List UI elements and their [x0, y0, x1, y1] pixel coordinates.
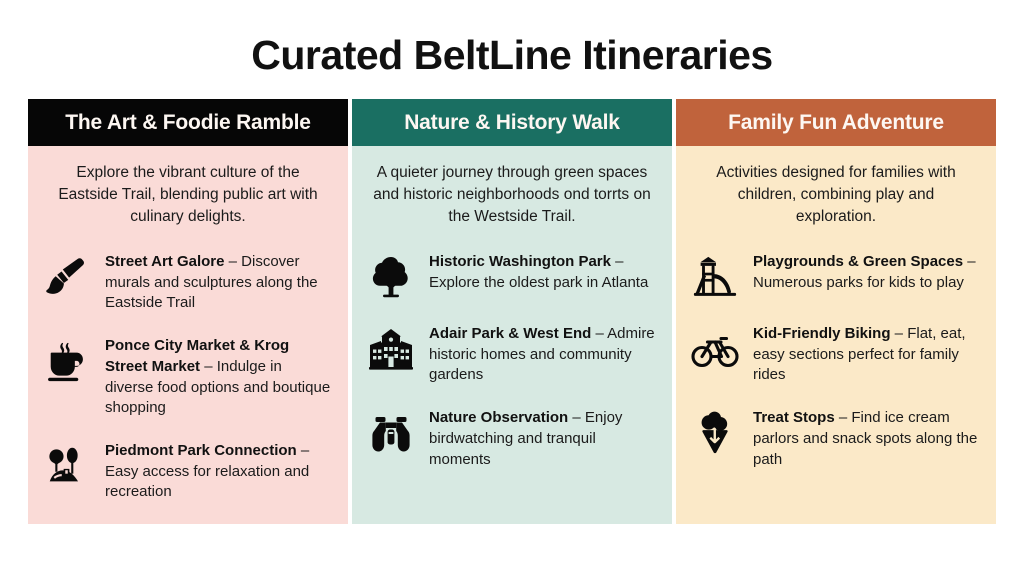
item-list-nature-history: Historic Washington Park – Explore the o… [366, 250, 658, 470]
coffee-cup-icon [42, 336, 92, 386]
list-item-text: Kid-Friendly Biking – Flat, eat, easy se… [753, 322, 982, 386]
list-item-text: Playgrounds & Green Spaces – Numerous pa… [753, 250, 982, 293]
list-item: Nature Observation – Enjoy birdwatching … [366, 406, 658, 470]
itinerary-card-nature-history: Nature & History Walk A quieter journey … [352, 99, 672, 524]
playground-slide-icon [690, 252, 740, 302]
list-item-title: Street Art Galore [105, 253, 224, 270]
card-header-family-fun: Family Fun Adventure [676, 99, 996, 146]
list-item: Playgrounds & Green Spaces – Numerous pa… [690, 250, 982, 302]
list-item-title: Playgrounds & Green Spaces [753, 253, 963, 270]
bicycle-icon [690, 324, 740, 374]
list-item-text: Nature Observation – Enjoy birdwatching … [429, 406, 658, 470]
item-list-family-fun: Playgrounds & Green Spaces – Numerous pa… [690, 250, 982, 470]
list-item-dash: – [224, 253, 241, 270]
list-item-text: Treat Stops – Find ice cream parlors and… [753, 406, 982, 470]
itinerary-card-family-fun: Family Fun Adventure Activities designed… [676, 99, 996, 524]
list-item-text: Street Art Galore – Discover murals and … [105, 250, 334, 314]
card-header-label: Family Fun Adventure [728, 111, 944, 135]
card-intro-text: A quieter journey through green spaces a… [366, 158, 658, 228]
list-item: Ponce City Market & Krog Street Market –… [42, 334, 334, 419]
list-item-dash: – [200, 358, 217, 375]
list-item-title: Nature Observation [429, 409, 568, 426]
list-item: Adair Park & West End – Admire historic … [366, 322, 658, 386]
card-intro-text: Explore the vibrant culture of the Easts… [42, 158, 334, 228]
card-header-label: The Art & Foodie Ramble [65, 111, 310, 135]
list-item-dash: – [963, 253, 976, 270]
list-item-title: Piedmont Park Connection [105, 442, 297, 459]
list-item-dash: – [591, 325, 607, 342]
list-item-text: Adair Park & West End – Admire historic … [429, 322, 658, 386]
historic-building-icon [366, 324, 416, 374]
list-item-text: Piedmont Park Connection – Easy access f… [105, 439, 334, 503]
card-body-art-foodie: Explore the vibrant culture of the Easts… [28, 146, 348, 524]
list-item-desc: Numerous parks for kids to play [753, 274, 964, 291]
list-item-text: Ponce City Market & Krog Street Market –… [105, 334, 334, 419]
itinerary-columns: The Art & Foodie Ramble Explore the vibr… [0, 78, 1024, 524]
list-item-title: Historic Washington Park [429, 253, 611, 270]
list-item-title: Treat Stops [753, 409, 835, 426]
list-item-text: Historic Washington Park – Explore the o… [429, 250, 658, 293]
list-item: Piedmont Park Connection – Easy access f… [42, 439, 334, 503]
itinerary-card-art-foodie: The Art & Foodie Ramble Explore the vibr… [28, 99, 348, 524]
tree-icon [366, 252, 416, 302]
binoculars-icon [366, 408, 416, 458]
list-item: Historic Washington Park – Explore the o… [366, 250, 658, 302]
ice-cream-cone-icon [690, 408, 740, 458]
paintbrush-icon [42, 252, 92, 302]
list-item: Street Art Galore – Discover murals and … [42, 250, 334, 314]
card-header-art-foodie: The Art & Foodie Ramble [28, 99, 348, 146]
card-body-nature-history: A quieter journey through green spaces a… [352, 146, 672, 524]
list-item: Treat Stops – Find ice cream parlors and… [690, 406, 982, 470]
card-body-family-fun: Activities designed for families with ch… [676, 146, 996, 524]
list-item-desc: Explore the oldest park in Atlanta [429, 274, 648, 291]
card-header-label: Nature & History Walk [404, 111, 620, 135]
infographic-page: Curated BeltLine Itineraries The Art & F… [0, 0, 1024, 572]
item-list-art-foodie: Street Art Galore – Discover murals and … [42, 250, 334, 503]
list-item-dash: – [568, 409, 585, 426]
park-trees-icon [42, 441, 92, 491]
page-title: Curated BeltLine Itineraries [0, 0, 1024, 78]
card-intro-text: Activities designed for families with ch… [690, 158, 982, 228]
list-item: Kid-Friendly Biking – Flat, eat, easy se… [690, 322, 982, 386]
list-item-dash: – [611, 253, 624, 270]
list-item-dash: – [297, 442, 310, 459]
list-item-dash: – [835, 409, 852, 426]
list-item-desc: Easy access for relaxation and recreatio… [105, 463, 309, 501]
list-item-dash: – [891, 325, 908, 342]
list-item-title: Kid-Friendly Biking [753, 325, 891, 342]
list-item-title: Adair Park & West End [429, 325, 591, 342]
card-header-nature-history: Nature & History Walk [352, 99, 672, 146]
